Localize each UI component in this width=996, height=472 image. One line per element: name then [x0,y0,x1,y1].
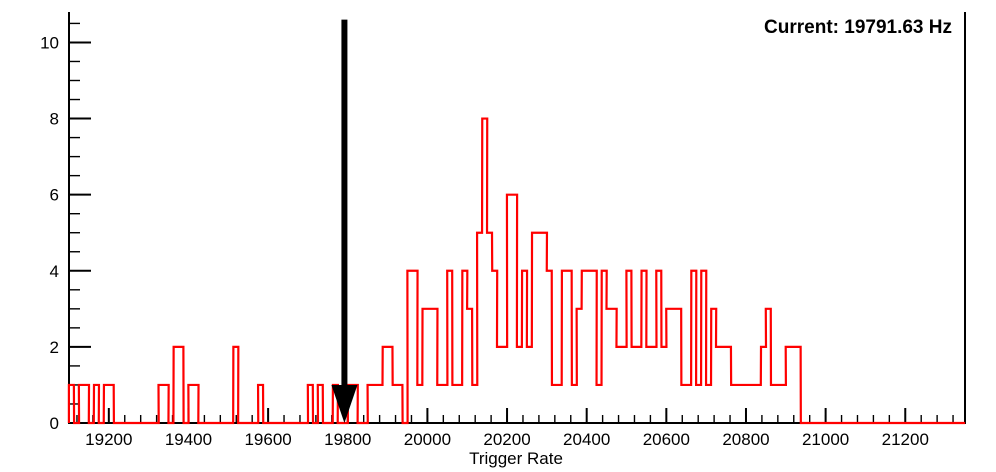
x-tick-label: 21200 [882,430,929,449]
y-axis-minor-ticks [69,23,80,423]
x-axis-title: Trigger Rate [469,449,563,468]
histogram-series [69,119,965,423]
x-axis-minor-ticks [77,415,953,423]
x-axis-major-ticks [109,408,905,423]
x-axis-tick-labels: 1920019400196001980020000202002040020600… [85,430,929,449]
current-rate-readout: Current: 19791.63 Hz [764,17,952,38]
y-tick-label: 8 [50,110,59,129]
y-tick-label: 10 [40,33,59,52]
x-tick-label: 20400 [563,430,610,449]
plot-svg: 0246810 19200194001960019800200002020020… [0,0,996,472]
histogram-canvas: 0246810 19200194001960019800200002020020… [0,0,996,472]
x-tick-label: 19800 [324,430,371,449]
y-axis-tick-labels: 0246810 [40,33,59,433]
y-tick-label: 2 [50,338,59,357]
y-tick-label: 6 [50,186,59,205]
y-tick-label: 4 [50,262,59,281]
x-tick-label: 20600 [643,430,690,449]
x-tick-label: 20800 [722,430,769,449]
x-tick-label: 21000 [802,430,849,449]
current-rate-marker [331,20,357,423]
x-tick-label: 19400 [165,430,212,449]
x-tick-label: 19600 [244,430,291,449]
marker-arrowhead-icon [331,385,357,423]
y-tick-label: 0 [50,414,59,433]
x-tick-label: 20000 [404,430,451,449]
x-tick-label: 19200 [85,430,132,449]
x-tick-label: 20200 [483,430,530,449]
